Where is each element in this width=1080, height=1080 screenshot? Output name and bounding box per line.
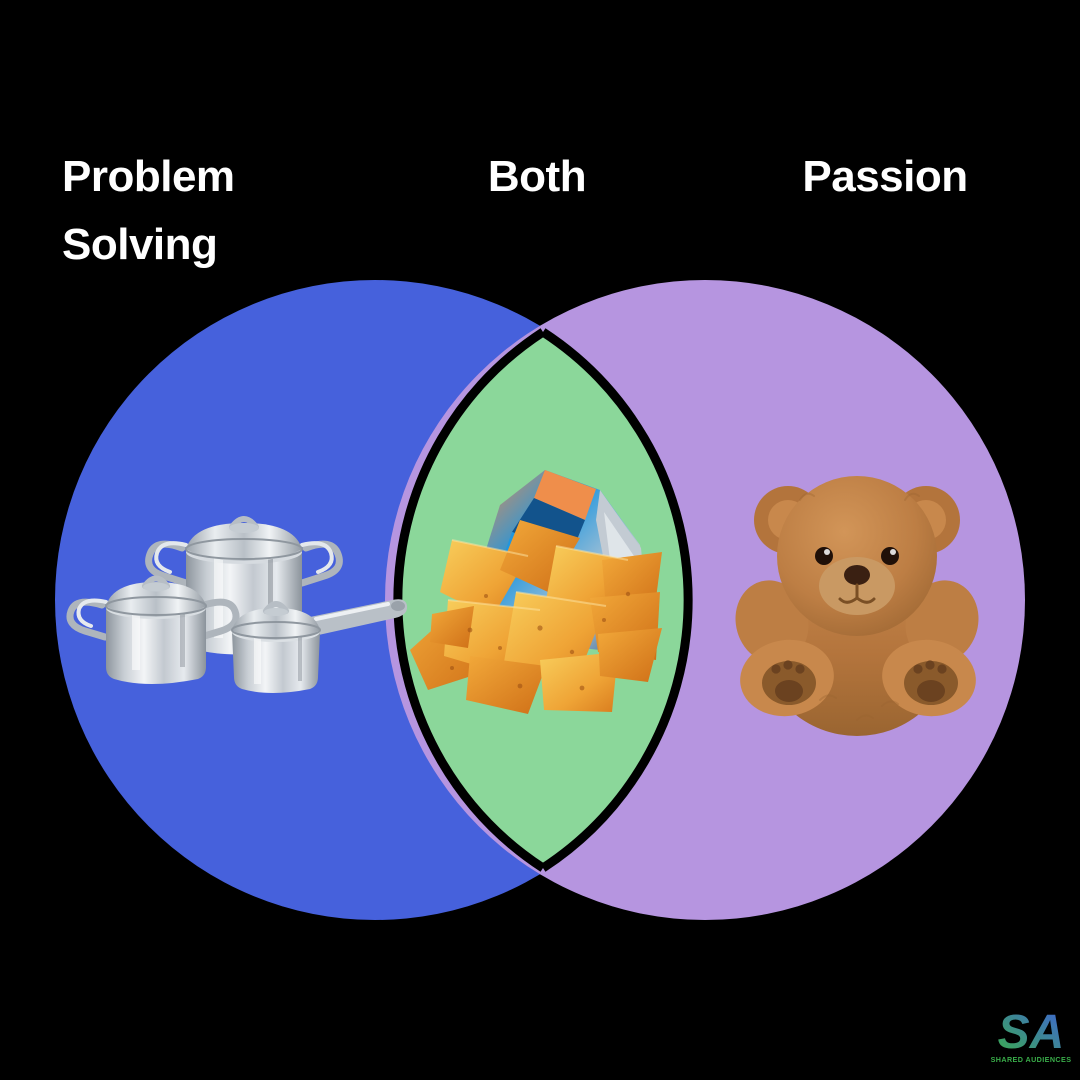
teddy-bear-image (726, 476, 988, 736)
venn-diagram-canvas: Problem Solving Both Passion SA SHARED A… (0, 0, 1080, 1080)
logo-svg: SA SHARED AUDIENCES (988, 1002, 1074, 1072)
venn-label-center: Both (437, 143, 637, 211)
logo-mark: SA (998, 1006, 1065, 1059)
shared-audiences-logo[interactable]: SA SHARED AUDIENCES (988, 1002, 1074, 1072)
venn-label-left: Problem Solving (62, 143, 362, 279)
venn-label-right: Passion (760, 143, 1010, 211)
logo-wordmark: SHARED AUDIENCES (991, 1055, 1072, 1064)
